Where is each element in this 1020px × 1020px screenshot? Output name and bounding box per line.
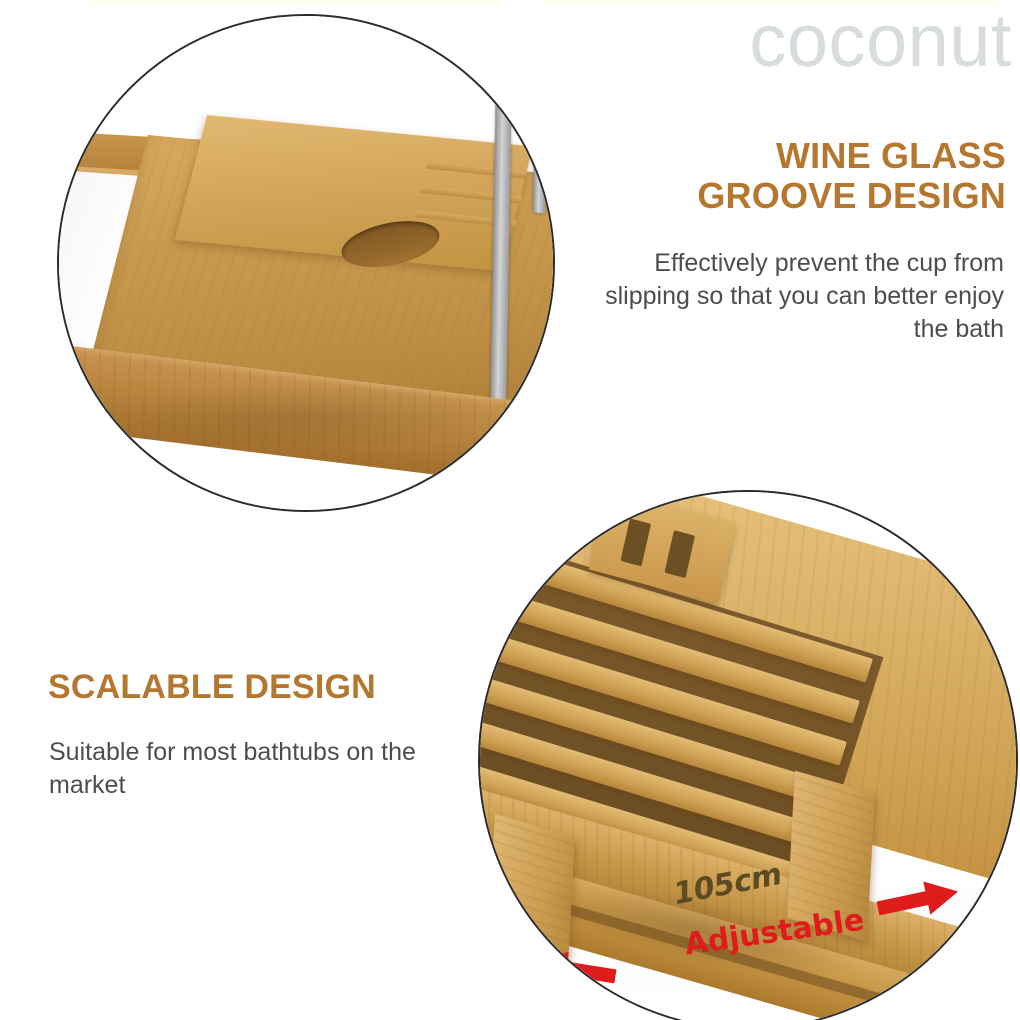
feature-image-wine-glass-groove: [57, 14, 555, 512]
feature-body-scalable-design: Suitable for most bathtubs on the market: [49, 736, 429, 802]
tray-drop-shadow: [108, 382, 503, 451]
feature-heading-scalable-design: SCALABLE DESIGN: [48, 668, 478, 706]
photo-inner-bottom: 105cm Adjustable: [480, 492, 1016, 1020]
feature-heading-line-1: WINE GLASS: [576, 136, 1006, 176]
feature-heading-line-1: SCALABLE DESIGN: [48, 668, 478, 706]
bamboo-tray-scene-top: [59, 16, 553, 510]
feature-body-wine-glass-groove: Effectively prevent the cup from slippin…: [604, 247, 1004, 346]
feature-image-scalable-design: 105cm Adjustable: [478, 490, 1018, 1020]
feature-heading-line-2: GROOVE DESIGN: [576, 176, 1006, 216]
feature-heading-wine-glass-groove: WINE GLASS GROOVE DESIGN: [576, 136, 1006, 217]
bamboo-caddy-scene-bottom: 105cm Adjustable: [480, 492, 1016, 1020]
brand-watermark: coconut: [749, 4, 1012, 78]
photo-inner-top: [59, 16, 553, 510]
metal-rod-secondary: [533, 75, 547, 215]
top-accent-band-left: [85, 0, 500, 6]
product-feature-page: coconut: [0, 0, 1020, 1020]
